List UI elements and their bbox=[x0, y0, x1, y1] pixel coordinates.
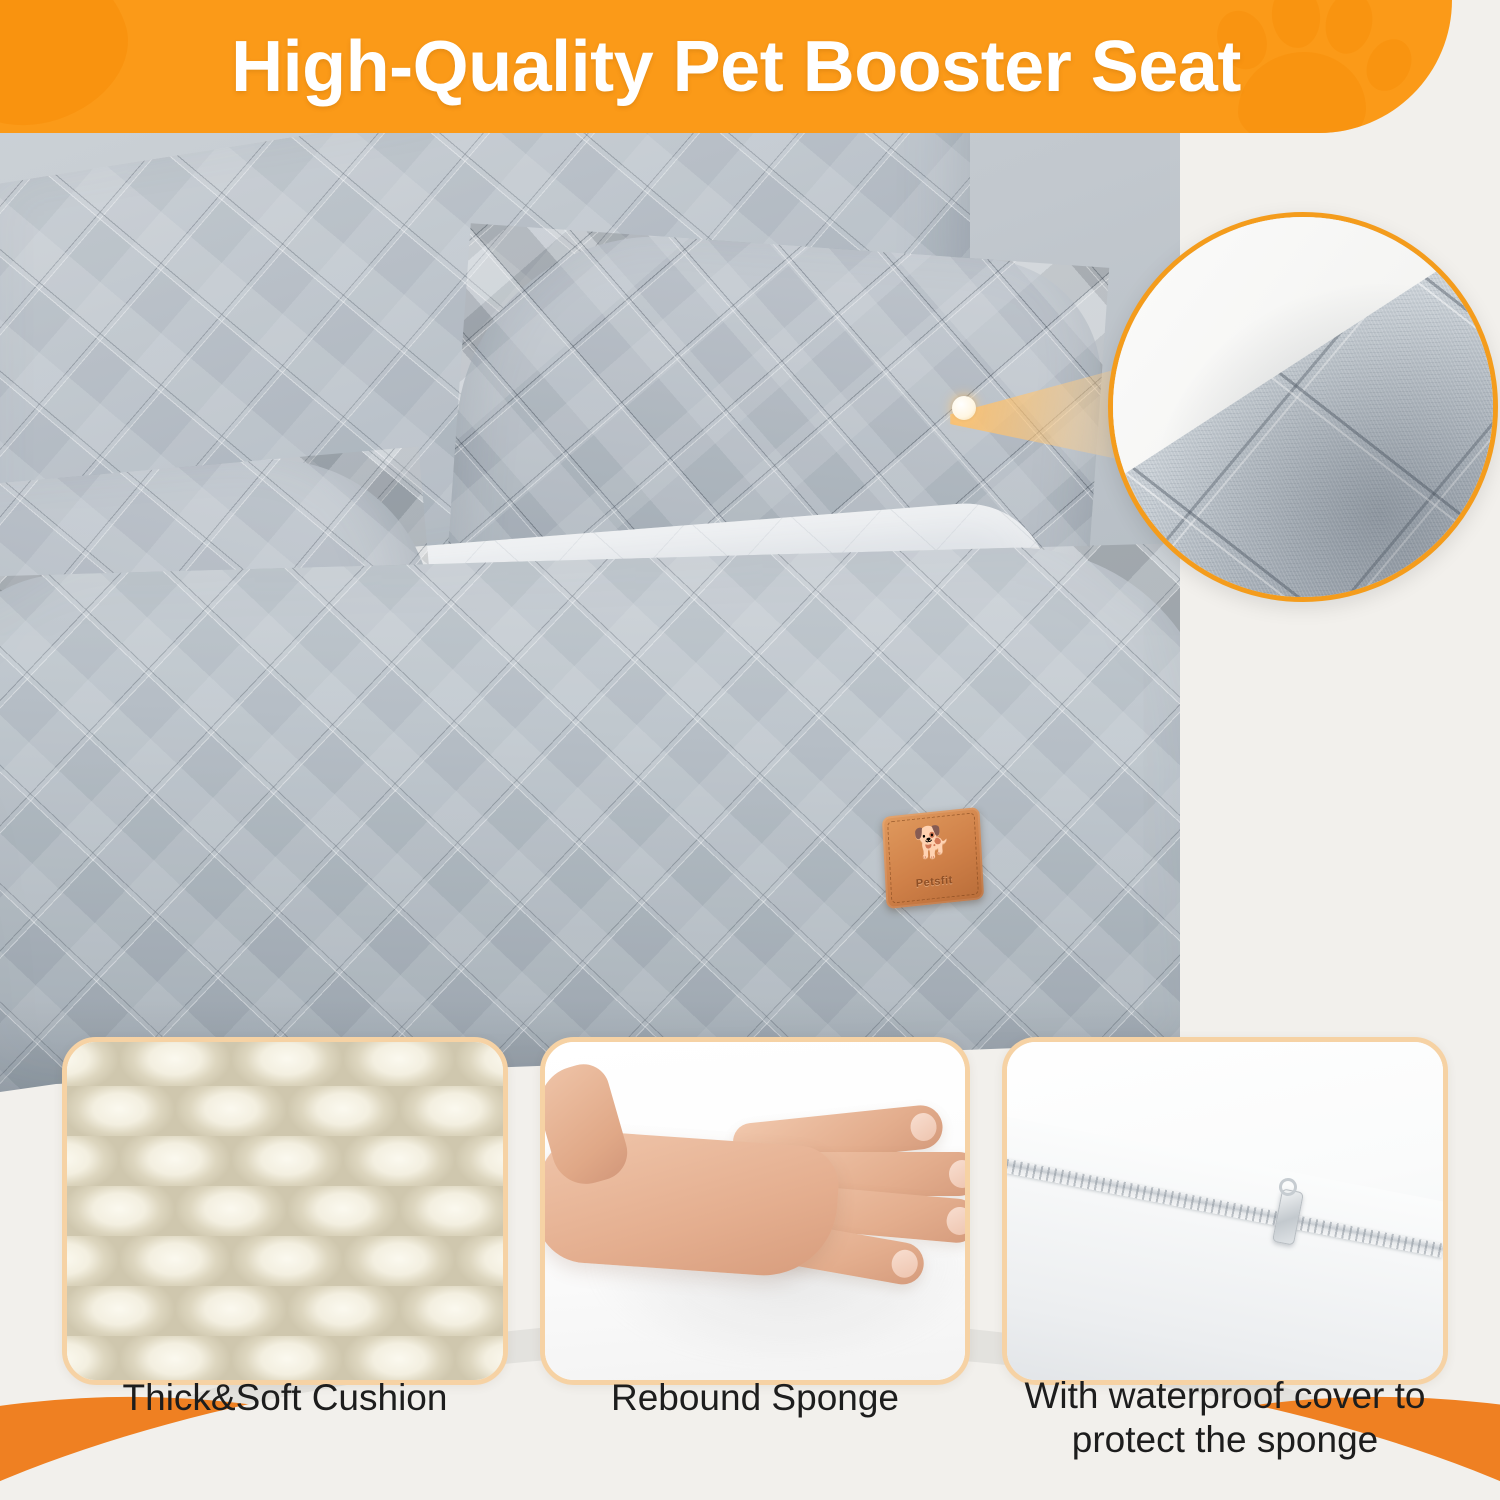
caption-line-1: With waterproof cover to bbox=[988, 1374, 1462, 1418]
header-banner: High-Quality Pet Booster Seat bbox=[0, 0, 1452, 133]
feature-cards bbox=[0, 1037, 1500, 1397]
product-photo: 🐕 Petsfit bbox=[0, 0, 1180, 1180]
page-title: High-Quality Pet Booster Seat bbox=[0, 26, 1452, 108]
foam-wave-row bbox=[62, 1236, 508, 1286]
fingernail bbox=[945, 1206, 970, 1236]
foam-wave-row bbox=[62, 1037, 508, 1086]
foam-wave-row bbox=[62, 1186, 508, 1236]
foam-wave-row bbox=[62, 1086, 508, 1136]
brand-tag-text: Petsfit bbox=[885, 871, 983, 893]
fingernail bbox=[909, 1112, 938, 1143]
feature-card-thick-soft-cushion[interactable] bbox=[62, 1037, 508, 1385]
magnifier-shading bbox=[1113, 217, 1493, 597]
foam-wave-row bbox=[62, 1286, 508, 1336]
feature-caption-waterproof-cover: With waterproof cover to protect the spo… bbox=[988, 1374, 1462, 1461]
fingernail bbox=[949, 1160, 970, 1188]
dog-silhouette-icon: 🐕 bbox=[883, 823, 982, 863]
feature-caption-rebound-sponge: Rebound Sponge bbox=[540, 1376, 970, 1420]
feature-card-waterproof-cover[interactable] bbox=[1002, 1037, 1448, 1385]
foam-wave-row bbox=[62, 1136, 508, 1186]
feature-card-rebound-sponge[interactable] bbox=[540, 1037, 970, 1385]
brand-leather-tag: 🐕 Petsfit bbox=[882, 807, 984, 909]
caption-line-2: protect the sponge bbox=[988, 1418, 1462, 1462]
callout-dot-icon bbox=[952, 396, 976, 420]
fabric-closeup-magnifier bbox=[1108, 212, 1498, 602]
white-zippered-cover-image bbox=[1007, 1042, 1443, 1380]
product-infographic: 🐕 Petsfit High-Quality Pet Booster Seat bbox=[0, 0, 1500, 1500]
hand-pressing-foam-image bbox=[545, 1042, 965, 1380]
feature-caption-thick-soft-cushion: Thick&Soft Cushion bbox=[62, 1376, 508, 1420]
foam-wave-rows bbox=[67, 1042, 503, 1380]
fingernail bbox=[889, 1248, 919, 1280]
egg-crate-foam-image bbox=[67, 1042, 503, 1380]
